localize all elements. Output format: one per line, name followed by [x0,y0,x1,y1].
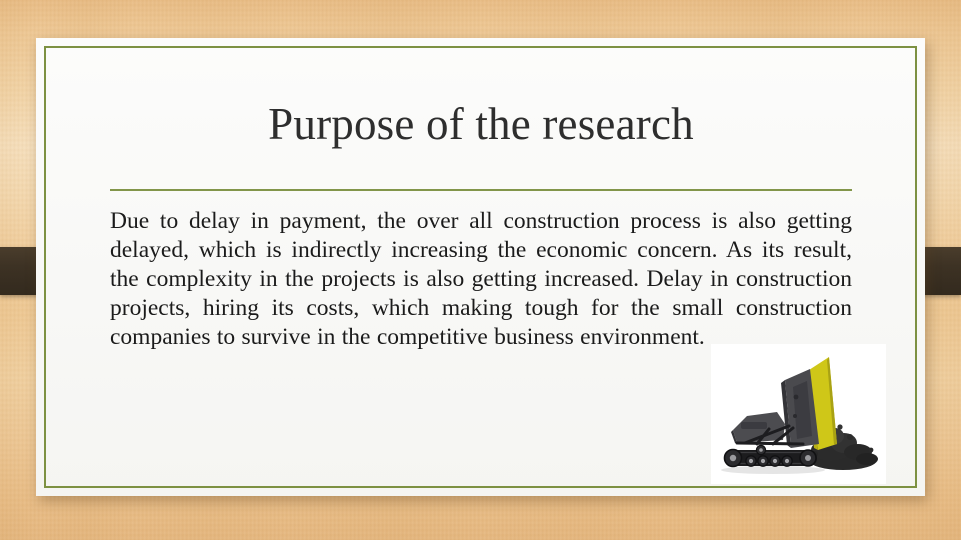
page-title: Purpose of the research [110,96,852,152]
slide-stage: Purpose of the research Due to delay in … [0,0,961,540]
construction-tracked-dumper-photo [711,344,886,484]
slide-body-block: Due to delay in payment, the over all co… [110,207,852,352]
dumper-illustration [711,344,886,484]
title-divider-rule [110,189,852,191]
slide-title-block: Purpose of the research [110,96,852,152]
body-paragraph: Due to delay in payment, the over all co… [110,207,852,352]
